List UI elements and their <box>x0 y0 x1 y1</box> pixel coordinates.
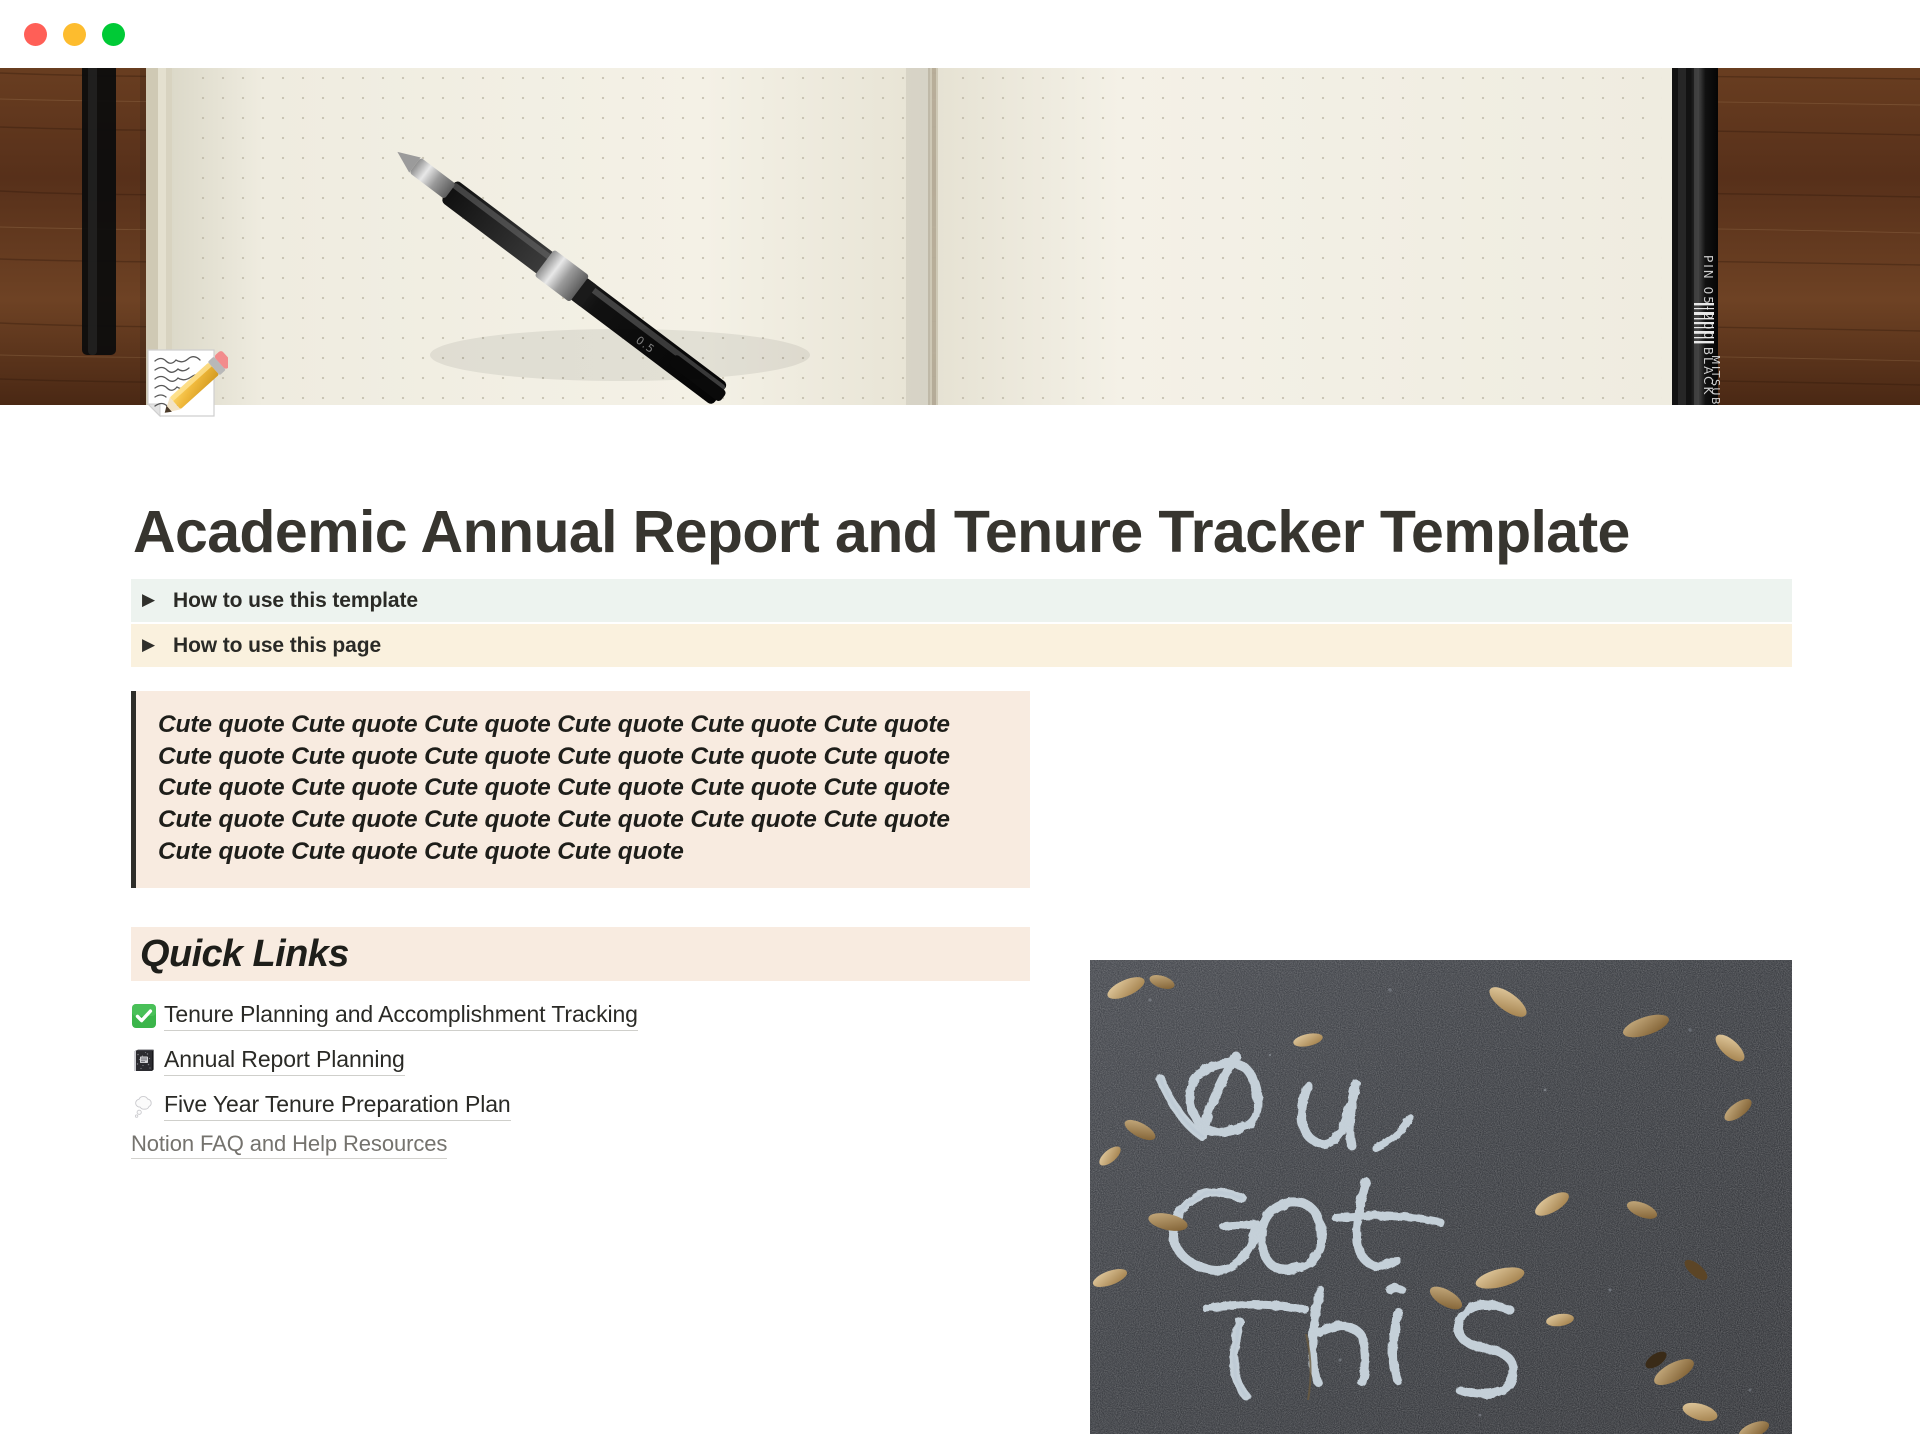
quote-line: Cute quote Cute quote Cute quote Cute qu… <box>158 709 1010 741</box>
notebook-emoji <box>131 1048 157 1074</box>
quote-line: Cute quote Cute quote Cute quote Cute qu… <box>158 741 1010 773</box>
you-got-this-chalk-illustration <box>1090 960 1792 1434</box>
quote-line: Cute quote Cute quote Cute quote Cute qu… <box>158 804 1010 836</box>
traffic-lights <box>24 23 125 46</box>
thought-balloon-emoji <box>131 1093 157 1119</box>
minimize-window-button[interactable] <box>63 23 86 46</box>
list-item[interactable]: Tenure Planning and Accomplishment Track… <box>131 994 1030 1037</box>
quote-line: Cute quote Cute quote Cute quote Cute qu… <box>158 836 1010 868</box>
you-got-this-image[interactable] <box>1090 960 1792 1434</box>
chevron-right-icon[interactable]: ▶ <box>142 637 164 654</box>
toggle-how-to-use-this-template[interactable]: ▶ How to use this template <box>131 579 1792 622</box>
close-window-button[interactable] <box>24 23 47 46</box>
quick-links-heading-block: Quick Links <box>131 927 1030 981</box>
toggle-label: How to use this template <box>173 589 418 613</box>
link-notion-faq-and-help-resources[interactable]: Notion FAQ and Help Resources <box>131 1131 447 1159</box>
quick-links-list: Tenure Planning and Accomplishment Track… <box>131 994 1030 1129</box>
quote-callout[interactable]: Cute quote Cute quote Cute quote Cute qu… <box>131 691 1030 888</box>
memo-emoji-page-icon[interactable] <box>140 338 228 426</box>
quote-line: Cute quote Cute quote Cute quote Cute qu… <box>158 772 1010 804</box>
white-check-mark-emoji <box>131 1003 157 1029</box>
zoom-window-button[interactable] <box>102 23 125 46</box>
link-tenure-planning-and-accomplishment-tracking[interactable]: Tenure Planning and Accomplishment Track… <box>164 1001 638 1031</box>
page-content: Academic Annual Report and Tenure Tracke… <box>0 405 1920 1200</box>
memo-emoji <box>140 338 228 426</box>
chevron-right-icon[interactable]: ▶ <box>142 592 164 609</box>
window-title-bar <box>0 0 1920 68</box>
notion-faq-link-row[interactable]: Notion FAQ and Help Resources <box>131 1131 447 1157</box>
quick-links-heading-text: Quick Links <box>140 933 349 976</box>
list-item[interactable]: Five Year Tenure Preparation Plan <box>131 1084 1030 1127</box>
thought-balloon-icon <box>131 1093 164 1119</box>
white-check-mark-icon <box>131 1003 164 1029</box>
link-annual-report-planning[interactable]: Annual Report Planning <box>164 1046 405 1076</box>
toggle-label: How to use this page <box>173 634 381 658</box>
notebook-cover-illustration: PIN 05-200 BLACK MITSUBISHI PENCIL CO.,L… <box>0 55 1920 405</box>
list-item[interactable]: Annual Report Planning <box>131 1039 1030 1082</box>
svg-text:MITSUBISHI PENCIL CO.,LTD: MITSUBISHI PENCIL CO.,LTD <box>1709 355 1722 405</box>
page-cover-image[interactable]: PIN 05-200 BLACK MITSUBISHI PENCIL CO.,L… <box>0 55 1920 405</box>
page-title: Academic Annual Report and Tenure Tracke… <box>133 500 1633 565</box>
link-five-year-tenure-preparation-plan[interactable]: Five Year Tenure Preparation Plan <box>164 1091 511 1121</box>
body-columns: Cute quote Cute quote Cute quote Cute qu… <box>0 679 1920 1179</box>
toggle-how-to-use-this-page[interactable]: ▶ How to use this page <box>131 624 1792 667</box>
toggle-block-list: ▶ How to use this template ▶ How to use … <box>131 579 1792 669</box>
notebook-icon <box>131 1048 164 1074</box>
